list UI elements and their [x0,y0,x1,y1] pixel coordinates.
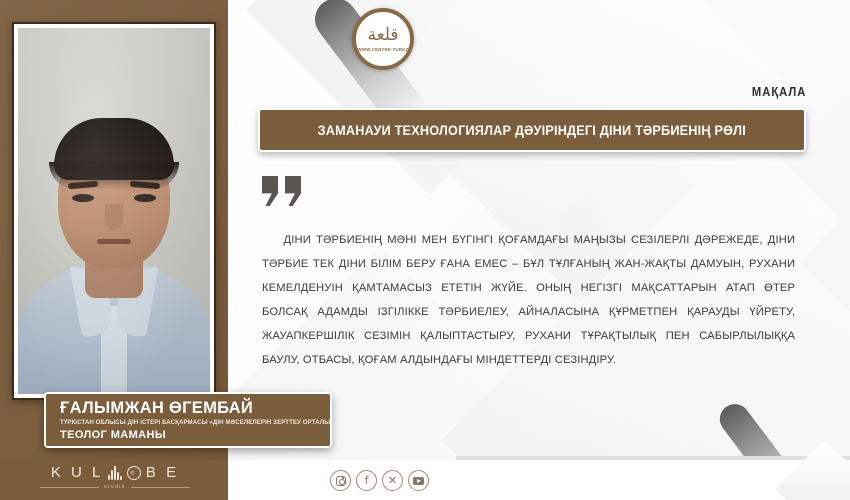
studio-sublabel: studio [104,484,126,490]
studio-rule-right [131,487,190,488]
portrait-frame [12,22,216,400]
article-body-text: ДІНИ ТӘРБИЕНІҢ МӘНІ МЕН БҮГІНГІ ҚОҒАМДАҒ… [262,228,795,372]
quote-stroke-right [285,176,301,206]
studio-rule-left [40,487,99,488]
facebook-icon[interactable]: f [356,470,377,491]
bottom-hairline-divider [456,456,850,460]
social-links: f ✕ [330,470,429,491]
article-title-bar: ЗАМАНАУИ ТЕХНОЛОГИЯЛАР ДӘУІРІНДЕГІ ДІНИ … [258,108,806,152]
quote-stroke-left [262,176,278,206]
studio-letters-left: K U L [51,464,104,481]
arabic-calligraphy-icon: قلعة [367,27,398,44]
logo-url-text: WWW.CENTRE-TURKZ [358,47,409,52]
speaker-role: ТЕОЛОГ МАМАНЫ [60,428,330,442]
studio-sub-row: studio [40,484,190,490]
studio-letters-right: B E [146,464,179,481]
kicker-label: МАҚАЛА [751,84,806,99]
portrait-vignette [18,28,210,394]
poster-canvas: قلعة WWW.CENTRE-TURKZ МАҚАЛА ЗАМАНАУИ ТЕ… [0,0,850,500]
speaker-organization: ТҮРКІСТАН ОБЛЫСЫ ДІН ІСТЕРІ БАСҚАРМАСЫ «… [60,418,330,428]
studio-logo-wordmark: K U L ◎ B E [51,464,179,481]
speaker-nameplate: ҒАЛЫМЖАН ӨГЕМБАЙ ТҮРКІСТАН ОБЛЫСЫ ДІН ІС… [44,392,332,448]
studio-logo: K U L ◎ B E studio [40,464,190,494]
page-title: ЗАМАНАУИ ТЕХНОЛОГИЯЛАР ДӘУІРІНДЕГІ ДІНИ … [318,123,746,138]
instagram-icon[interactable] [330,470,351,491]
x-twitter-icon[interactable]: ✕ [382,470,403,491]
quote-mark-icon [262,176,301,206]
studio-circle-icon: ◎ [127,466,141,480]
bottom-white-area [228,460,850,500]
speaker-name: ҒАЛЫМЖАН ӨГЕМБАЙ [60,399,330,418]
organization-logo-badge: قلعة WWW.CENTRE-TURKZ [352,8,414,70]
portrait-photo [18,28,210,394]
youtube-icon[interactable] [408,470,429,491]
waveform-icon [108,466,122,480]
